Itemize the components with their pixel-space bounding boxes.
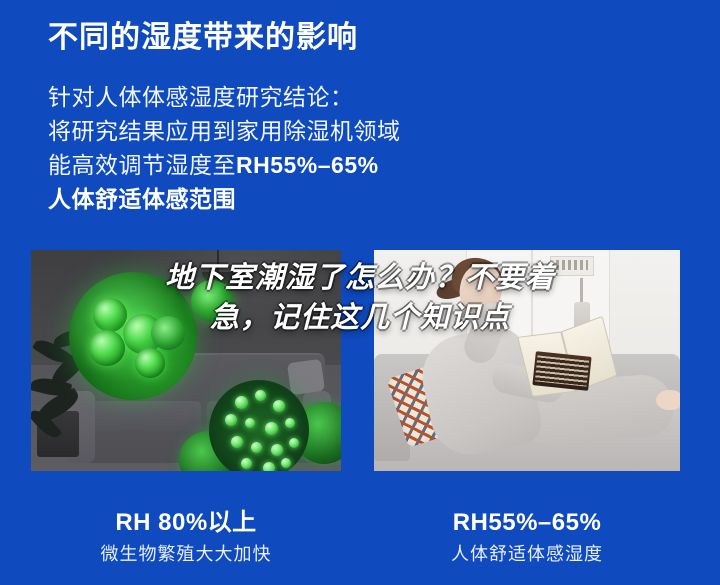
page-title: 不同的湿度带来的影响: [48, 20, 358, 56]
overlay-headline-line-2: 急，记住这几个知识点: [58, 298, 662, 338]
intro-line-4: 人体舒适体感范围: [48, 182, 401, 216]
intro-line-3-highlight: RH55%–65%: [236, 152, 379, 178]
intro-line-3: 能高效调节湿度至RH55%–65%: [48, 148, 401, 182]
bacteria-cell-icon: [135, 348, 165, 378]
caption-right-heading: RH55%–65%: [374, 508, 680, 538]
intro-line-3-regular: 能高效调节湿度至: [48, 152, 236, 178]
overlay-headline-line-1: 地下室潮湿了怎么办？不要着: [58, 258, 662, 298]
intro-line-2: 将研究结果应用到家用除湿机领域: [48, 114, 401, 148]
virus-sphere-icon: [209, 380, 309, 471]
caption-high-humidity: RH 80%以上 微生物繁殖大大加快: [31, 508, 341, 567]
caption-right-subtext: 人体舒适体感湿度: [374, 541, 680, 567]
intro-paragraph: 针对人体体感湿度研究结论： 将研究结果应用到家用除湿机领域 能高效调节湿度至RH…: [48, 80, 401, 216]
woman-foot: [656, 390, 680, 410]
sofa-cushion: [89, 401, 201, 431]
humidity-infographic-poster: 不同的湿度带来的影响 针对人体体感湿度研究结论： 将研究结果应用到家用除湿机领域…: [0, 0, 720, 585]
caption-left-heading: RH 80%以上: [31, 508, 341, 538]
caption-left-subtext: 微生物繁殖大大加快: [31, 541, 341, 567]
book-pages-edge: [535, 355, 589, 386]
caption-comfort-humidity: RH55%–65% 人体舒适体感湿度: [374, 508, 680, 567]
overlay-headline: 地下室潮湿了怎么办？不要着 急，记住这几个知识点: [0, 258, 720, 338]
intro-line-1: 针对人体体感湿度研究结论：: [48, 80, 401, 114]
throw-pillow: [287, 359, 325, 395]
